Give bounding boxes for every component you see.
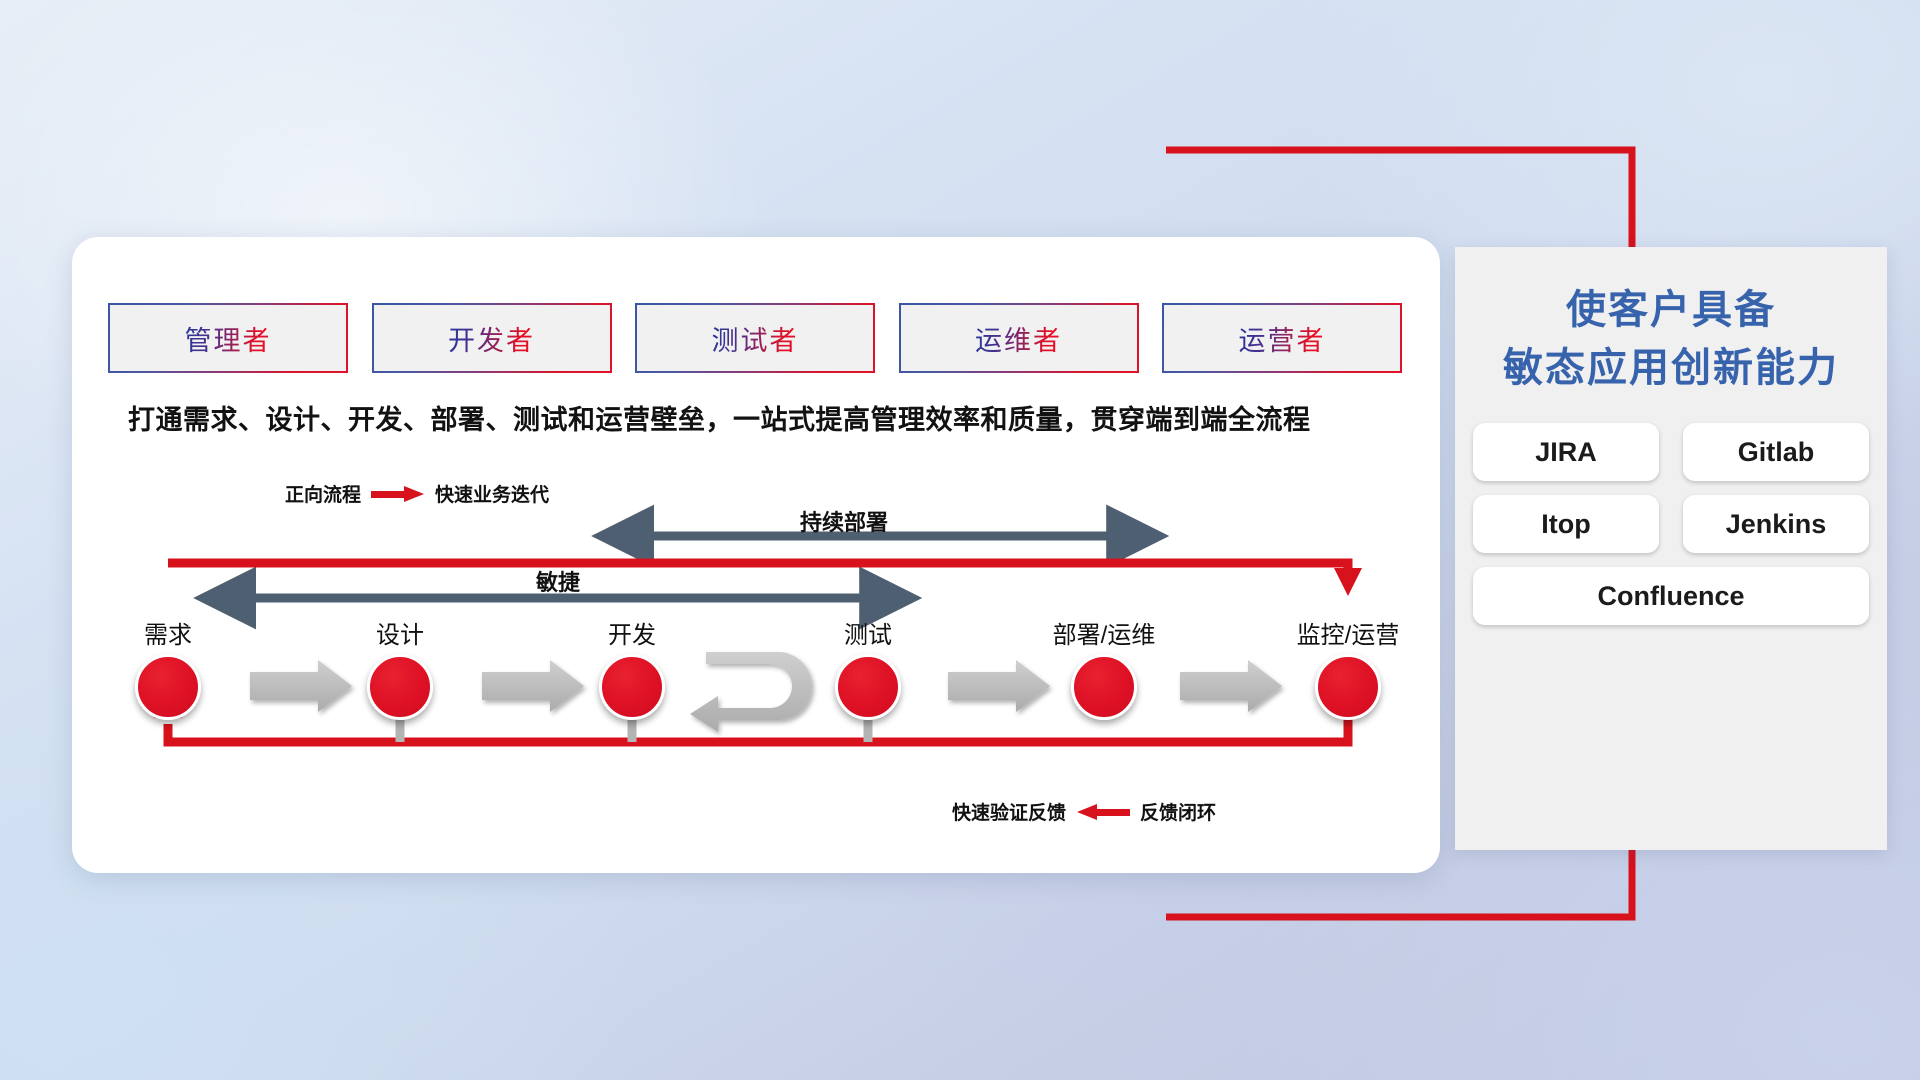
forward-flow-label: 正向流程: [285, 480, 361, 507]
role-label: 开发者: [448, 319, 535, 358]
outcome-panel: 使客户具备 敏态应用创新能力 JIRA Gitlab Itop Jenkins …: [1455, 247, 1887, 850]
stage-label: 设计: [325, 624, 475, 648]
role-label: 运营者: [1239, 319, 1326, 358]
feedback-annotation: 快速验证反馈 反馈闭环: [952, 798, 1216, 825]
stage-development[interactable]: 开发: [557, 624, 707, 720]
tool-jenkins[interactable]: Jenkins: [1683, 495, 1869, 553]
stage-label: 监控/运营: [1273, 624, 1423, 648]
stage-label: 部署/运维: [1029, 624, 1179, 648]
tool-jira[interactable]: JIRA: [1473, 423, 1659, 481]
stage-deploy-ops[interactable]: 部署/运维: [1029, 624, 1179, 720]
stage-dot: [1071, 654, 1137, 720]
stage-requirement[interactable]: 需求: [93, 624, 243, 720]
value-statement: 打通需求、设计、开发、部署、测试和运营壁垒，一站式提高管理效率和质量，贯穿端到端…: [128, 398, 1418, 437]
role-label: 运维者: [975, 319, 1062, 358]
panel-title-line2: 敏态应用创新能力: [1455, 339, 1887, 397]
role-box-tester[interactable]: 测试者: [637, 305, 873, 371]
stage-label: 需求: [93, 624, 243, 648]
continuous-deployment-label: 持续部署: [800, 505, 888, 537]
stage-label: 开发: [557, 624, 707, 648]
forward-flow-annotation: 正向流程 快速业务迭代: [285, 480, 549, 507]
feedback-loop-label: 反馈闭环: [1140, 798, 1216, 825]
stage-dot: [1315, 654, 1381, 720]
role-box-ops[interactable]: 运维者: [901, 305, 1137, 371]
stage-dot: [835, 654, 901, 720]
panel-title: 使客户具备 敏态应用创新能力: [1455, 281, 1887, 397]
tool-gitlab[interactable]: Gitlab: [1683, 423, 1869, 481]
panel-title-line1: 使客户具备: [1455, 281, 1887, 339]
tool-confluence[interactable]: Confluence: [1473, 567, 1869, 625]
tool-list: JIRA Gitlab Itop Jenkins Confluence: [1473, 423, 1869, 625]
role-box-developer[interactable]: 开发者: [374, 305, 610, 371]
stage-design[interactable]: 设计: [325, 624, 475, 720]
fast-iteration-label: 快速业务迭代: [435, 480, 549, 507]
fast-validation-label: 快速验证反馈: [952, 798, 1066, 825]
stage-label: 测试: [793, 624, 943, 648]
stage-dot: [599, 654, 665, 720]
role-label: 管理者: [185, 319, 272, 358]
role-label: 测试者: [712, 319, 799, 358]
arrow-left-icon: [1076, 806, 1130, 818]
role-box-manager[interactable]: 管理者: [110, 305, 346, 371]
role-box-operator[interactable]: 运营者: [1164, 305, 1400, 371]
tool-itop[interactable]: Itop: [1473, 495, 1659, 553]
stage-monitor-operate[interactable]: 监控/运营: [1273, 624, 1423, 720]
stage-dot: [135, 654, 201, 720]
stage-dot: [367, 654, 433, 720]
stage-testing[interactable]: 测试: [793, 624, 943, 720]
agile-label: 敏捷: [536, 565, 580, 597]
arrow-right-icon: [371, 488, 425, 500]
role-box-row: 管理者 开发者 测试者 运维者 运营者: [110, 305, 1400, 371]
